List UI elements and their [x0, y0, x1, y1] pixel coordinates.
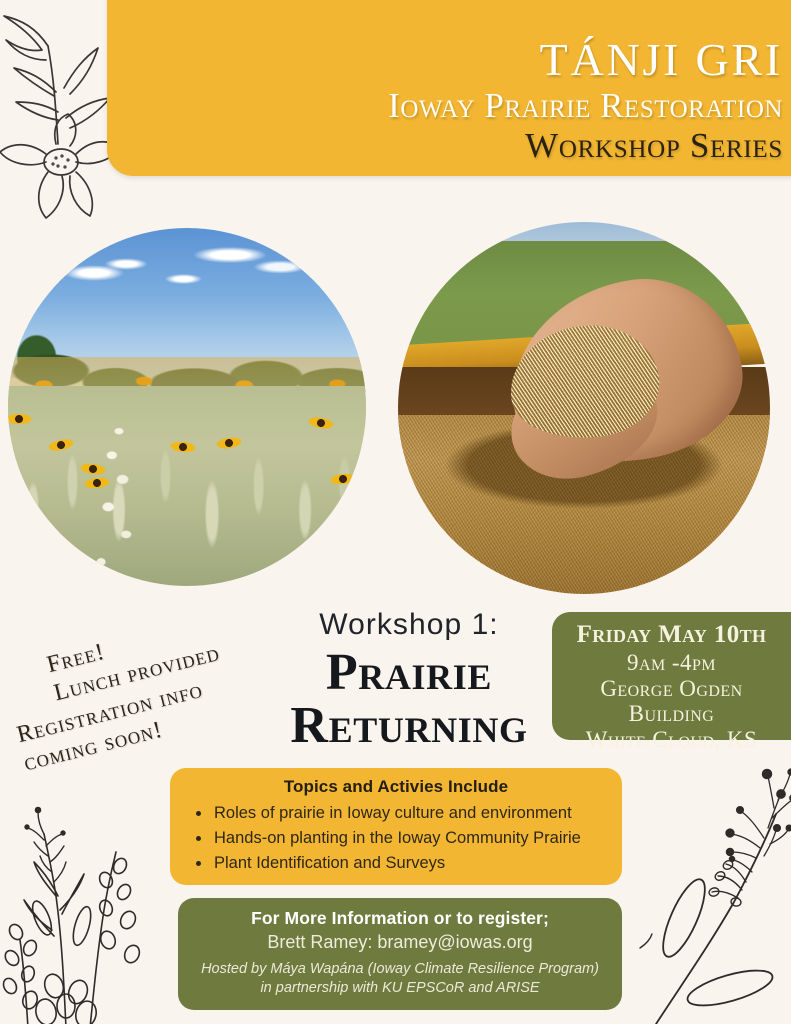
event-date: Friday May 10th — [552, 621, 791, 650]
event-location: White Cloud, KS — [552, 727, 791, 753]
poster-series-label: Workshop Series — [388, 127, 783, 164]
black-eyed-susan-flower — [325, 464, 362, 493]
poster-subtitle: Ioway Prairie Restoration — [388, 87, 783, 124]
berry-branch-line-art-icon — [638, 752, 791, 1024]
topic-item: Plant Identification and Surveys — [212, 851, 608, 876]
botanical-sprigs-line-art-icon — [0, 800, 174, 1024]
prairie-seed-photo — [398, 222, 770, 594]
black-eyed-susan-flower — [79, 469, 115, 498]
topic-item: Hands-on planting in the Ioway Community… — [212, 826, 608, 851]
header-title-group: TÁNJI GRI Ioway Prairie Restoration Work… — [388, 36, 783, 164]
contact-email-link[interactable]: Brett Ramey: bramey@iowas.org — [194, 932, 606, 953]
workshop-title-line-1: Prairie — [254, 646, 564, 699]
contact-card: For More Information or to register; Bre… — [178, 898, 622, 1010]
black-eyed-susan-flower — [165, 432, 202, 461]
topics-heading: Topics and Activies Include — [184, 777, 608, 797]
workshop-number-label: Workshop 1: — [254, 608, 564, 642]
event-time: 9am -4pm — [552, 650, 791, 676]
header-banner: TÁNJI GRI Ioway Prairie Restoration Work… — [107, 0, 791, 176]
hosted-by-credit: Hosted by Máya Wapána (Ioway Climate Res… — [194, 960, 606, 998]
event-venue-line-1: George Ogden — [552, 676, 791, 702]
event-venue-line-2: Building — [552, 701, 791, 727]
black-eyed-susan-flower — [8, 406, 36, 432]
event-details-card: Friday May 10th 9am -4pm George Ogden Bu… — [552, 612, 791, 740]
prairie-meadow-photo — [8, 228, 366, 586]
black-eyed-susan-flower — [210, 428, 247, 458]
workshop-headline-group: Workshop 1: Prairie Returning — [254, 608, 564, 752]
topics-list: Roles of prairie in Ioway culture and en… — [184, 801, 608, 876]
black-eyed-susan-flower — [302, 407, 340, 439]
workshop-title: Prairie Returning — [254, 646, 564, 752]
poster-title: TÁNJI GRI — [388, 36, 783, 85]
topic-item: Roles of prairie in Ioway culture and en… — [212, 801, 608, 826]
contact-heading: For More Information or to register; — [194, 908, 606, 929]
workshop-title-line-2: Returning — [254, 699, 564, 752]
poster-canvas: TÁNJI GRI Ioway Prairie Restoration Work… — [0, 0, 791, 1024]
topics-card: Topics and Activies Include Roles of pra… — [170, 768, 622, 885]
